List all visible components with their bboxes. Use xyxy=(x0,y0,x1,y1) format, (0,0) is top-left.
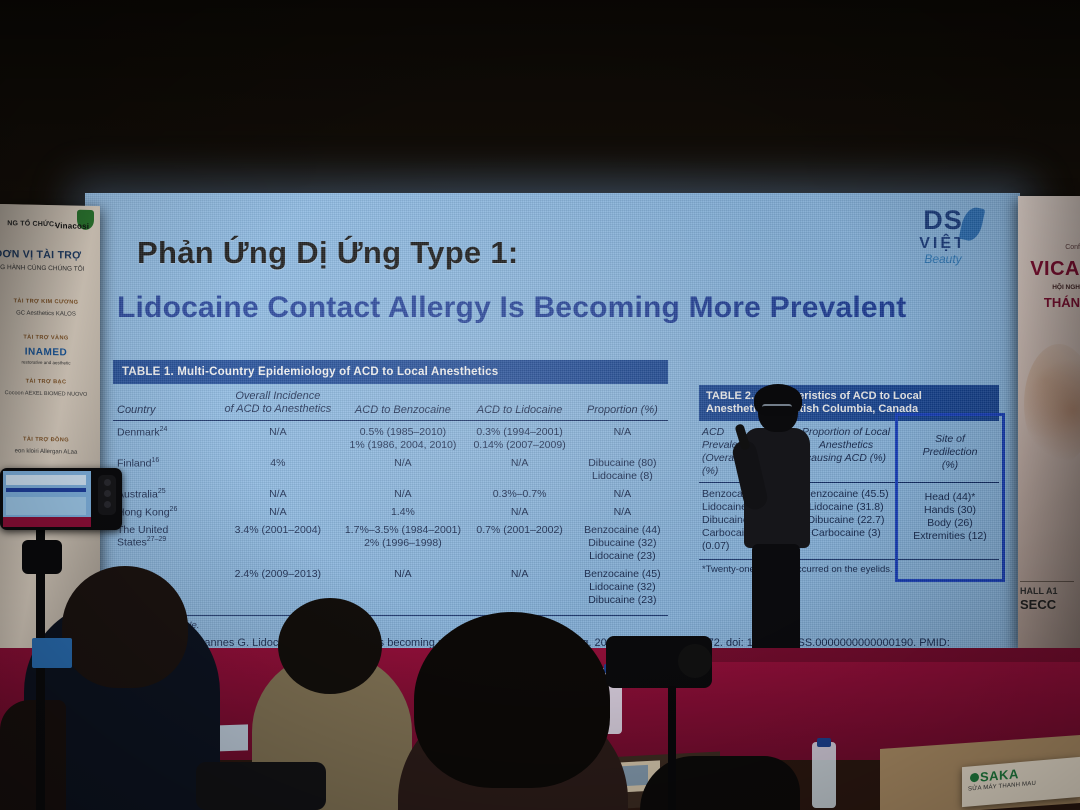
th-overall-incidence: Overall Incidence of ACD to Anesthetics xyxy=(212,390,343,416)
cell-benzocaine: N/A xyxy=(343,488,462,501)
cell-overall: 2.4% (2009–2013) xyxy=(212,568,343,580)
table-row: The United States27–29 3.4% (2001–2004) … xyxy=(113,519,668,563)
slide-title-line1: Phản Ứng Dị Ứng Type 1: xyxy=(137,235,519,271)
slide-title-line2: Lidocaine Contact Allergy Is Becoming Mo… xyxy=(117,291,906,325)
cell-country: Denmark24 xyxy=(113,426,212,439)
th-proportion: Proportion (%) xyxy=(577,404,668,416)
cell-proportion: N/A xyxy=(577,426,668,439)
table-1-grid: Country Overall Incidence of ACD to Anes… xyxy=(113,384,668,631)
audience-head xyxy=(278,598,382,694)
smartphone-recording xyxy=(0,468,122,530)
saka-logo-icon xyxy=(970,773,979,783)
camera-bag xyxy=(196,762,326,810)
site-of-predilection-highlight-box xyxy=(895,413,1005,582)
cell-country-ref: 16 xyxy=(151,457,159,464)
th-acd-lidocaine: ACD to Lidocaine xyxy=(463,404,577,416)
cell-country: Australia25 xyxy=(113,488,212,501)
table-row: Hong Kong26 N/A 1.4% N/A N/A xyxy=(113,501,668,519)
cell-proportion: Benzocaine (45)Lidocaine (32)Dibucaine (… xyxy=(577,568,668,607)
cell-benzocaine: N/A xyxy=(343,568,462,581)
th-overall-l1: Overall Incidence xyxy=(212,390,343,403)
cell-overall: 3.4% (2001–2004) xyxy=(212,524,343,536)
cell-proportion: N/A xyxy=(577,488,668,501)
cell-lidocaine: 0.3%–0.7% xyxy=(463,488,577,501)
th-acd-benzocaine: ACD to Benzocaine xyxy=(343,404,462,416)
cell-country: Hong Kong26 xyxy=(113,506,212,519)
cell-lidocaine: 0.7% (2001–2002) xyxy=(463,524,577,537)
logo-line3: Beauty xyxy=(898,252,988,266)
preview-accent-bar xyxy=(6,488,86,492)
table-row: Australia25 N/A N/A 0.3%–0.7% N/A xyxy=(113,483,668,501)
phone-camera-module xyxy=(98,475,116,515)
table-1-footnote: N/A, not applicable. xyxy=(113,616,668,631)
th-overall-l2: of ACD to Anesthetics xyxy=(212,403,343,416)
table-1-caption: TABLE 1. Multi-Country Epidemiology of A… xyxy=(113,360,668,384)
cell-overall: 4% xyxy=(212,457,343,469)
conference-photo-scene: Phản Ứng Dị Ứng Type 1: Lidocaine Contac… xyxy=(0,0,1080,810)
table-row: Denmark24 N/A 0.5% (1985–2010)1% (1986, … xyxy=(113,421,668,452)
camera-tripod-pole xyxy=(668,686,676,810)
table-row: Finland16 4% N/A N/A Dibucaine (80)Lidoc… xyxy=(113,452,668,483)
table-1-header-row: Country Overall Incidence of ACD to Anes… xyxy=(113,384,668,421)
cell-country: The United States27–29 xyxy=(113,524,212,549)
speaker-glasses xyxy=(762,404,792,413)
cell-lidocaine: 0.3% (1994–2001)0.14% (2007–2009) xyxy=(463,426,577,452)
event-banner-right: Conf VICA HỘI NGH THÁN HALL A1 SECC xyxy=(1018,196,1080,651)
cell-country-ref: 26 xyxy=(170,506,178,513)
audience-member xyxy=(640,756,800,810)
cell-benzocaine: 0.5% (1985–2010)1% (1986, 2004, 2010) xyxy=(343,426,462,452)
tripod-head xyxy=(22,540,62,574)
slide-content: Phản Ứng Dị Ứng Type 1: Lidocaine Contac… xyxy=(85,193,1020,690)
table-1: TABLE 1. Multi-Country Epidemiology of A… xyxy=(113,360,668,631)
cell-overall: N/A xyxy=(212,488,343,500)
cell-benzocaine: 1.7%–3.5% (1984–2001)2% (1996–1998) xyxy=(343,524,462,550)
table-row: Canada 2.4% (2009–2013) N/A N/A Benzocai… xyxy=(113,563,668,607)
cell-proportion: Dibucaine (80)Lidocaine (8) xyxy=(577,457,668,483)
camera-lcd-screen xyxy=(32,638,72,668)
preview-body xyxy=(6,497,86,515)
cell-benzocaine: 1.4% xyxy=(343,506,462,519)
bottle-cap xyxy=(817,738,831,747)
banner-right-shadow xyxy=(1018,196,1080,651)
cell-country: Finland16 xyxy=(113,457,212,470)
cell-lidocaine: N/A xyxy=(463,506,577,519)
camera-lens xyxy=(678,644,712,678)
cell-country-ref: 25 xyxy=(158,488,166,495)
ds-viet-beauty-logo: DS VIỆT Beauty xyxy=(898,205,988,281)
phone-screen-preview xyxy=(3,471,91,527)
cell-proportion: N/A xyxy=(577,506,668,519)
audience-head xyxy=(414,612,610,788)
cell-benzocaine: N/A xyxy=(343,457,462,470)
cell-lidocaine: N/A xyxy=(463,568,577,581)
water-bottle xyxy=(812,742,836,808)
led-presentation-screen: Phản Ứng Dị Ứng Type 1: Lidocaine Contac… xyxy=(85,193,1020,690)
cell-proportion: Benzocaine (44)Dibucaine (32)Lidocaine (… xyxy=(577,524,668,563)
audience-member xyxy=(0,700,66,810)
cell-country-ref: 27–29 xyxy=(147,536,166,543)
cell-lidocaine: N/A xyxy=(463,457,577,470)
cell-country-ref: 24 xyxy=(160,426,168,433)
cell-overall: N/A xyxy=(212,506,343,518)
cell-overall: N/A xyxy=(212,426,343,438)
audience-head xyxy=(62,566,188,688)
preview-stage-strip xyxy=(3,517,91,527)
th-country: Country xyxy=(113,404,212,416)
preview-title-bar xyxy=(6,475,86,485)
